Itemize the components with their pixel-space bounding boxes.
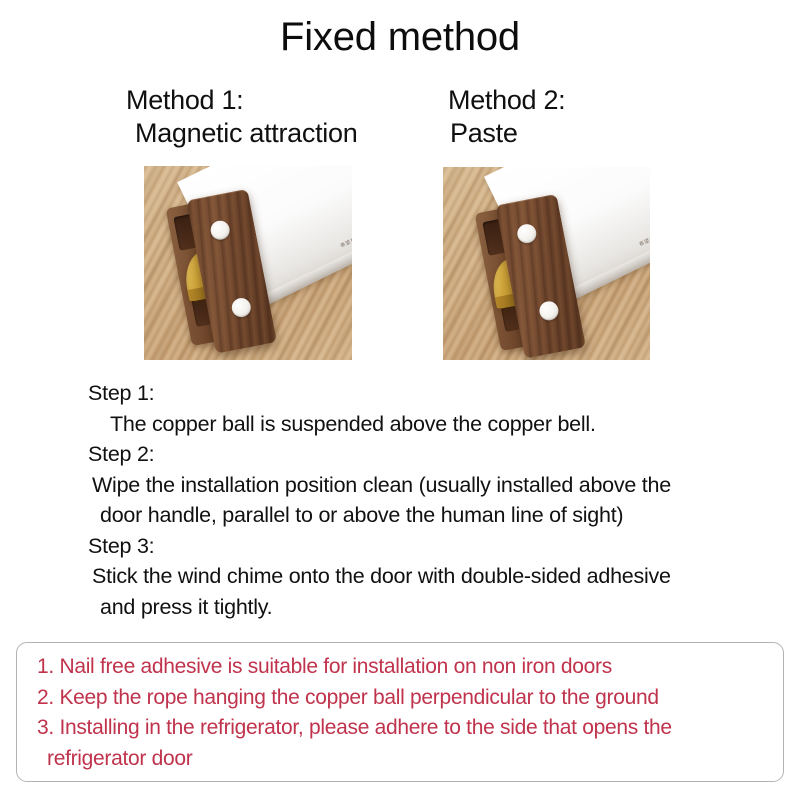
notice-line-3-continued: refrigerator door — [37, 744, 769, 775]
installation-steps: Step 1: The copper ball is suspended abo… — [88, 378, 788, 622]
step-3-body-continued: and press it tightly. — [88, 592, 788, 623]
method-1-heading: Method 1: Magnetic attraction — [126, 84, 357, 150]
step-2: Step 2: Wipe the installation position c… — [88, 439, 788, 531]
step-3: Step 3: Stick the wind chime onto the do… — [88, 531, 788, 623]
step-2-body: Wipe the installation position clean (us… — [88, 470, 788, 501]
method-1-product-photo: 希望をもって ツ キ — [144, 166, 352, 360]
notice-box: 1. Nail free adhesive is suitable for in… — [16, 642, 784, 782]
step-1: Step 1: The copper ball is suspended abo… — [88, 378, 788, 439]
step-1-body: The copper ball is suspended above the c… — [88, 409, 788, 440]
step-3-label: Step 3: — [88, 531, 788, 562]
book-print-mark-a: 希望をもって — [638, 229, 650, 249]
method-2-sublabel: Paste — [448, 117, 565, 150]
notice-line-3: 3. Installing in the refrigerator, pleas… — [37, 713, 769, 744]
method-2-label: Method 2: — [448, 84, 565, 117]
step-3-body: Stick the wind chime onto the door with … — [88, 561, 788, 592]
step-2-label: Step 2: — [88, 439, 788, 470]
page-title: Fixed method — [0, 14, 800, 60]
method-2-heading: Method 2: Paste — [448, 84, 565, 150]
method-1-sublabel: Magnetic attraction — [126, 117, 357, 150]
notice-line-2: 2. Keep the rope hanging the copper ball… — [37, 683, 769, 714]
notice-line-1: 1. Nail free adhesive is suitable for in… — [37, 652, 769, 683]
step-1-label: Step 1: — [88, 378, 788, 409]
book-print-mark-a: 希望をもって — [339, 231, 352, 251]
step-2-body-continued: door handle, parallel to or above the hu… — [88, 500, 788, 531]
method-1-label: Method 1: — [126, 84, 357, 117]
method-2-product-photo: 希望をもって ツ キ — [443, 167, 650, 360]
